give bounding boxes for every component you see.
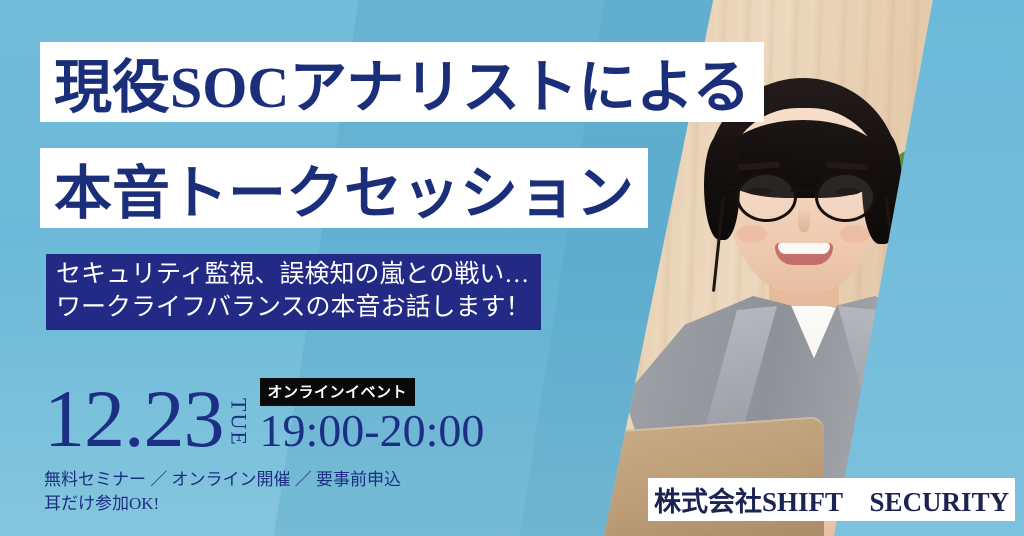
subtitle-block: セキュリティ監視、誤検知の嵐との戦い… ワークライフバランスの本音お話します！ [46,254,541,330]
subtitle-line-2: ワークライフバランスの本音お話します！ [56,291,531,324]
event-notes: 無料セミナー ／ オンライン開催 ／ 要事前申込 耳だけ参加OK! [44,468,401,516]
page-title-line-2: 本音トークセッション [40,148,648,228]
event-date-block: 12.23 TUE オンラインイベント 19:00-20:00 [44,378,484,455]
event-note-line-1: 無料セミナー ／ オンライン開催 ／ 要事前申込 [44,468,401,492]
event-date: 12.23 [44,384,224,455]
event-time: 19:00-20:00 [260,409,485,453]
banner-content: 現役SOCアナリストによる 本音トークセッション セキュリティ監視、誤検知の嵐と… [0,0,1024,536]
subtitle-line-1: セキュリティ監視、誤検知の嵐との戦い… [56,258,531,291]
page-title-line-1: 現役SOCアナリストによる [40,42,764,122]
company-name: 株式会社SHIFT SECURITY [648,478,1015,521]
event-banner: DELL 現役SOCアナリストによる 本音トークセッション セキュリティ監視、誤… [0,0,1024,536]
status-badge: オンラインイベント [260,378,416,406]
event-note-line-2: 耳だけ参加OK! [44,492,401,516]
event-day-of-week: TUE [228,398,250,447]
event-time-column: オンラインイベント 19:00-20:00 [260,378,485,453]
